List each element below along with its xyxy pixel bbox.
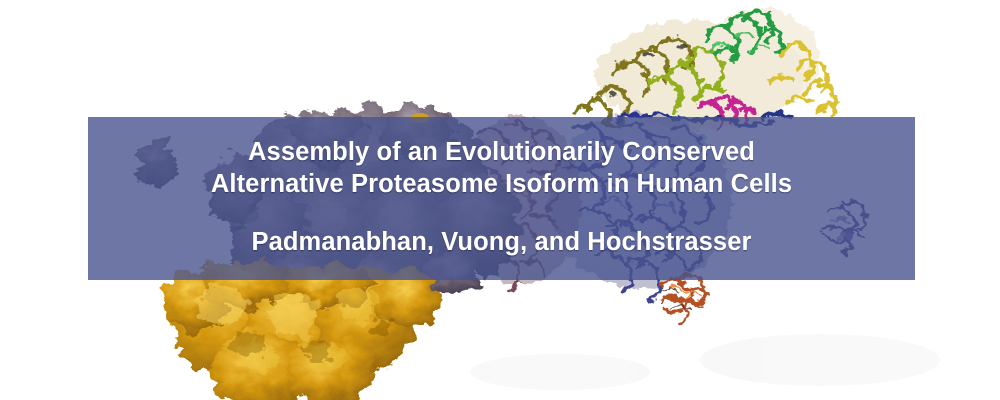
background-artifact — [470, 334, 940, 390]
orange-ribbon-subunit — [660, 275, 708, 324]
title-line-2: Alternative Proteasome Isoform in Human … — [88, 168, 915, 200]
title-overlay-band: Assembly of an Evolutionarily Conserved … — [88, 117, 915, 280]
author-line: Padmanabhan, Vuong, and Hochstrasser — [88, 227, 915, 257]
article-title: Assembly of an Evolutionarily Conserved … — [88, 136, 915, 200]
author-list: Padmanabhan, Vuong, and Hochstrasser — [88, 227, 915, 257]
gold-map-shadows — [230, 320, 392, 359]
rainbow-ribbon-model — [575, 8, 836, 130]
gold-density-map — [163, 260, 442, 400]
gold-map-highlights — [198, 286, 378, 373]
graphical-abstract-figure: Assembly of an Evolutionarily Conserved … — [0, 0, 1000, 400]
title-line-1: Assembly of an Evolutionarily Conserved — [88, 136, 915, 168]
